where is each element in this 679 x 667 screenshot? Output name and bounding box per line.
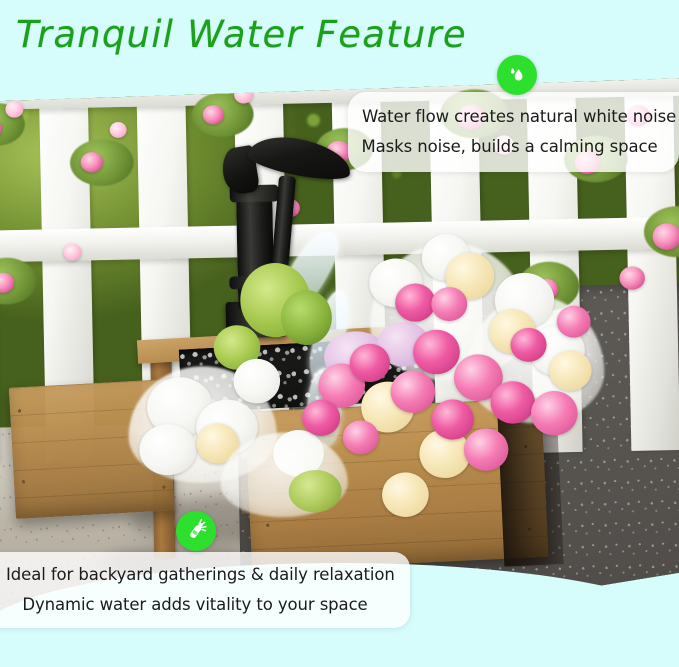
climbing-rose xyxy=(652,223,679,250)
product-feature-poster: Tranquil Water Feature xyxy=(0,0,679,667)
callout-line: Masks noise, builds a calming space xyxy=(360,132,665,162)
callout-line: Dynamic water adds vitality to your spac… xyxy=(6,590,400,620)
bottom-band xyxy=(0,633,679,667)
callout-water-flow: Water flow creates natural white noise M… xyxy=(348,92,679,172)
water-drop-icon xyxy=(505,63,529,87)
callout-backyard-relaxation: Ideal for backyard gatherings & daily re… xyxy=(0,552,410,628)
water-drop-badge xyxy=(497,55,537,95)
spray-bottle-badge xyxy=(176,511,216,551)
climbing-rose xyxy=(110,122,127,138)
callout-line: Ideal for backyard gatherings & daily re… xyxy=(6,560,400,590)
callout-line: Water flow creates natural white noise xyxy=(360,102,665,132)
page-title: Tranquil Water Feature xyxy=(16,13,467,56)
spray-bottle-icon xyxy=(183,518,209,544)
